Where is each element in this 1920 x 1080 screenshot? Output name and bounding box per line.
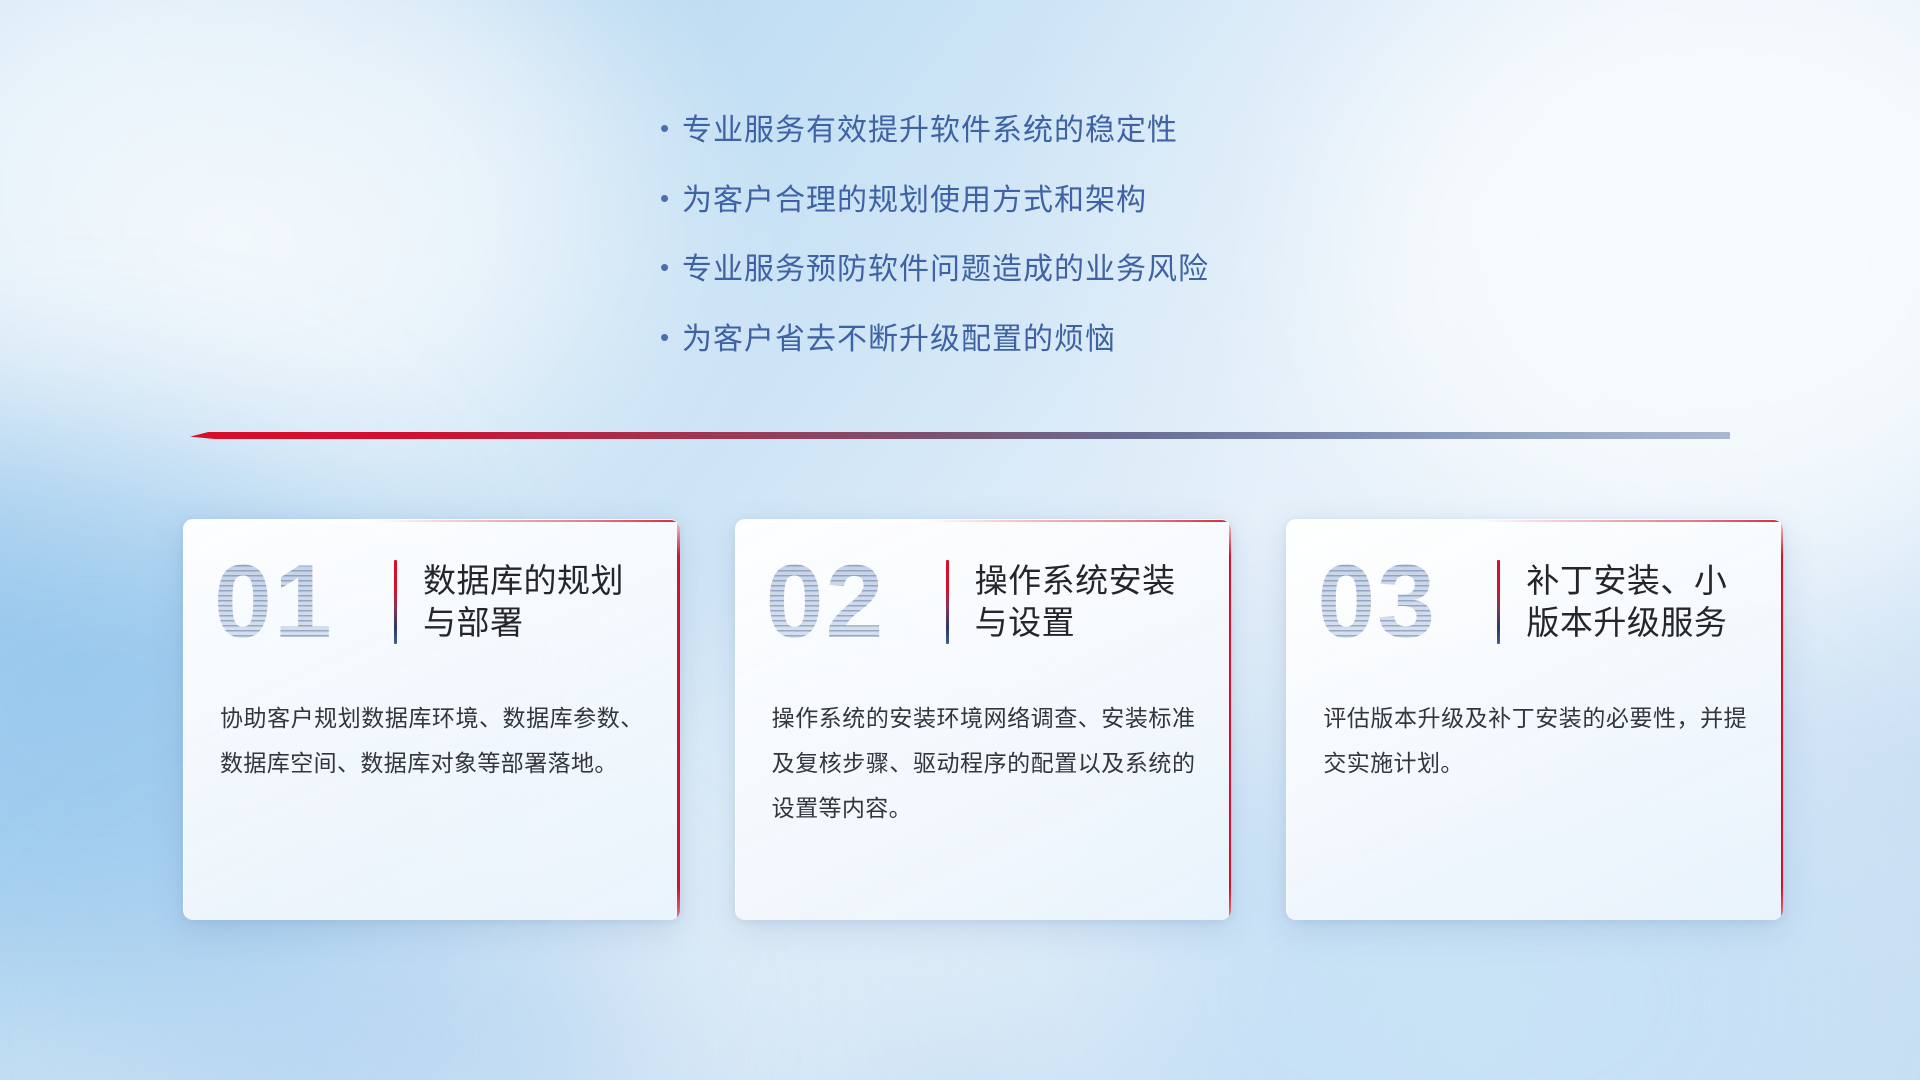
service-card-body: 协助客户规划数据库环境、数据库参数、数据库空间、数据库对象等部署落地。 <box>184 648 680 786</box>
benefits-bullet-list: 专业服务有效提升软件系统的稳定性 为客户合理的规划使用方式和架构 专业服务预防软… <box>660 112 1420 390</box>
service-card-title: 操作系统安装与设置 <box>975 560 1198 644</box>
bullet-text: 为客户省去不断升级配置的烦恼 <box>682 321 1116 359</box>
service-card-title: 补丁安装、小版本升级服务 <box>1526 560 1749 644</box>
service-card-body: 操作系统的安装环境网络调查、安装标准及复核步骤、驱动程序的配置以及系统的设置等内… <box>736 648 1232 831</box>
service-card-header: 01 数据库的规划与部署 <box>184 520 680 648</box>
service-card-02[interactable]: 02 操作系统安装与设置 操作系统的安装环境网络调查、安装标准及复核步骤、驱动程… <box>735 519 1232 920</box>
section-divider <box>190 430 1730 444</box>
service-card-number: 01 <box>214 550 400 654</box>
background-glow-top-left <box>0 0 600 500</box>
bullet-item: 为客户合理的规划使用方式和架构 <box>660 182 1420 220</box>
service-card-body: 评估版本升级及补丁安装的必要性，并提交实施计划。 <box>1287 648 1783 786</box>
service-card-header: 02 操作系统安装与设置 <box>736 520 1232 648</box>
bullet-text: 专业服务有效提升软件系统的稳定性 <box>682 112 1178 150</box>
bullet-item: 为客户省去不断升级配置的烦恼 <box>660 321 1420 359</box>
bullet-dot-icon <box>660 185 682 211</box>
slide-canvas: 专业服务有效提升软件系统的稳定性 为客户合理的规划使用方式和架构 专业服务预防软… <box>0 0 1920 1080</box>
section-divider-line <box>190 432 1730 439</box>
service-card-list: 01 数据库的规划与部署 协助客户规划数据库环境、数据库参数、数据库空间、数据库… <box>183 519 1783 920</box>
bullet-item: 专业服务预防软件问题造成的业务风险 <box>660 251 1420 289</box>
background-glow-top-right <box>1340 0 1920 580</box>
bullet-text: 为客户合理的规划使用方式和架构 <box>682 182 1147 220</box>
service-card-header: 03 补丁安装、小版本升级服务 <box>1287 520 1783 648</box>
bullet-item: 专业服务有效提升软件系统的稳定性 <box>660 112 1420 150</box>
service-card-title: 数据库的规划与部署 <box>423 560 646 644</box>
bullet-text: 专业服务预防软件问题造成的业务风险 <box>682 251 1209 289</box>
bullet-dot-icon <box>660 115 682 141</box>
service-card-03[interactable]: 03 补丁安装、小版本升级服务 评估版本升级及补丁安装的必要性，并提交实施计划。 <box>1286 519 1783 920</box>
service-card-number: 03 <box>1317 550 1503 654</box>
bullet-dot-icon <box>660 324 682 350</box>
service-card-01[interactable]: 01 数据库的规划与部署 协助客户规划数据库环境、数据库参数、数据库空间、数据库… <box>183 519 680 920</box>
service-card-number: 02 <box>766 550 952 654</box>
bullet-dot-icon <box>660 254 682 280</box>
